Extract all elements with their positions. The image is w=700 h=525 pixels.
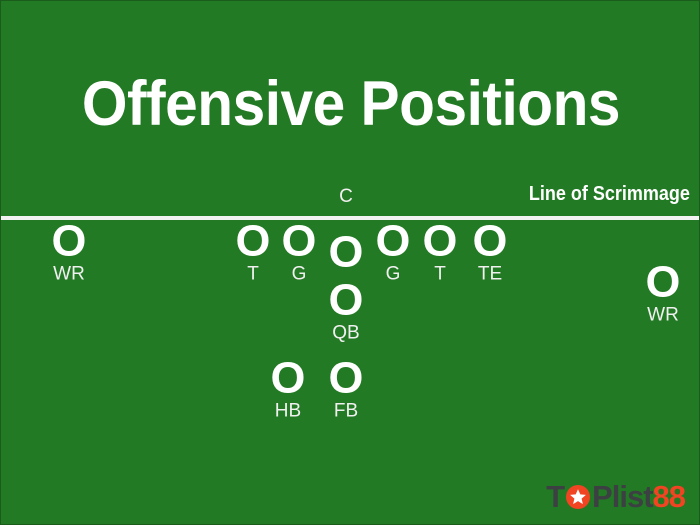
watermark-letter-t: T — [546, 481, 564, 512]
player-marker-icon: O — [376, 223, 411, 262]
watermark-number-88: 88 — [653, 481, 685, 512]
player-marker-icon: O — [473, 223, 508, 262]
player-marker-icon: O — [329, 234, 364, 273]
player-halfback: OHB — [271, 360, 305, 421]
watermark-star-o-icon — [565, 484, 591, 510]
player-marker-icon: O — [282, 223, 317, 262]
offensive-positions-diagram: Offensive Positions Line of Scrimmage C … — [0, 0, 700, 525]
page-title: Offensive Positions — [26, 73, 677, 136]
player-left-guard: OG — [282, 223, 316, 284]
player-label: FB — [329, 401, 363, 420]
player-label: QB — [329, 323, 363, 342]
player-wide-receiver-right: OWR — [646, 264, 680, 325]
player-quarterback: OQB — [329, 282, 363, 343]
player-label: G — [376, 264, 410, 283]
player-marker-icon: O — [52, 223, 87, 262]
player-marker-icon: O — [329, 360, 364, 399]
player-left-tackle: OT — [236, 223, 270, 284]
player-label: WR — [52, 264, 86, 283]
line-of-scrimmage-rule — [1, 216, 700, 220]
player-label: WR — [646, 305, 680, 324]
center-position-label: C — [339, 187, 353, 206]
player-label: TE — [473, 264, 507, 283]
player-marker-icon: O — [646, 264, 681, 303]
player-label: T — [236, 264, 270, 283]
player-right-tackle: OT — [423, 223, 457, 284]
player-marker-icon: O — [236, 223, 271, 262]
player-right-guard: OG — [376, 223, 410, 284]
player-marker-icon: O — [271, 360, 306, 399]
player-marker-icon: O — [329, 282, 364, 321]
player-label: G — [282, 264, 316, 283]
player-label: T — [423, 264, 457, 283]
player-fullback: OFB — [329, 360, 363, 421]
player-marker-icon: O — [423, 223, 458, 262]
line-of-scrimmage-label: Line of Scrimmage — [529, 184, 690, 204]
player-wide-receiver-left: OWR — [52, 223, 86, 284]
watermark-text-plist: Plist — [592, 481, 652, 512]
player-center: O — [329, 234, 363, 273]
player-tight-end: OTE — [473, 223, 507, 284]
player-label: HB — [271, 401, 305, 420]
watermark-toplist88: T Plist 88 — [546, 481, 685, 512]
